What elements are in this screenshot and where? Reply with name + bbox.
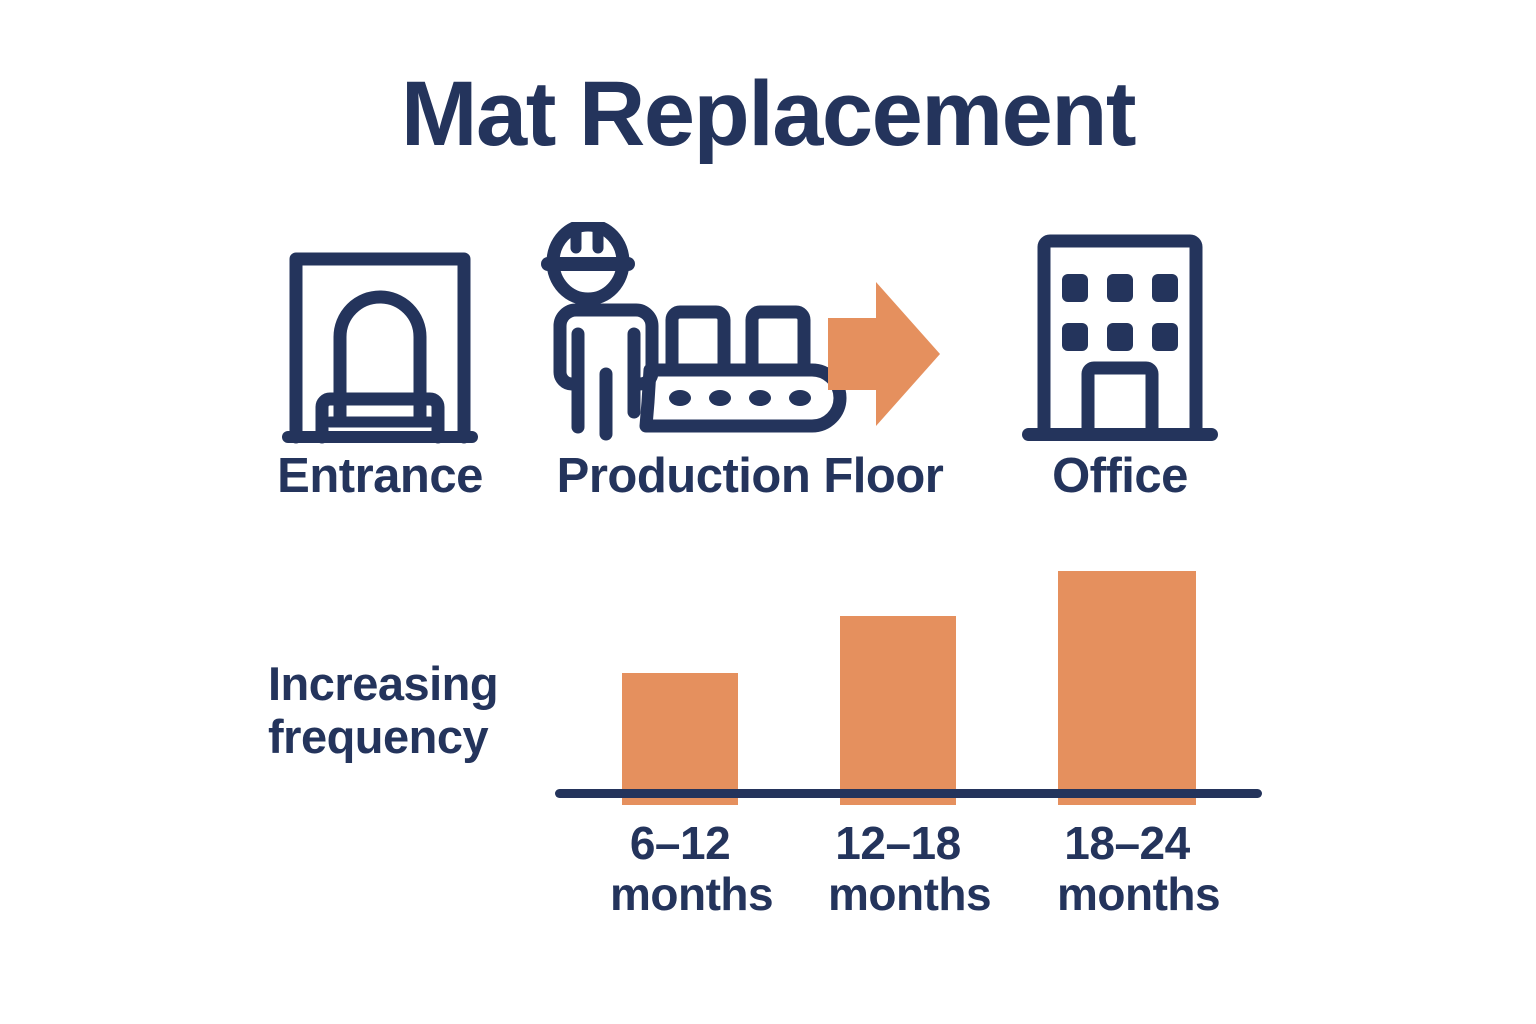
factory-worker-conveyor-icon (540, 222, 960, 444)
zone-label-entrance: Entrance (260, 448, 500, 504)
tick-label-unit-1: months (610, 869, 750, 920)
tick-label-range-3: 18–24 (1057, 818, 1197, 869)
tick-label-12-18-months: 12–18 months (828, 818, 968, 919)
bar-12-18-months (840, 616, 956, 805)
office-ground-line (1022, 428, 1218, 441)
zone-office: Office (1000, 222, 1240, 472)
bar-18-24-months (1058, 571, 1196, 805)
office-building-icon (1000, 222, 1240, 444)
chart-plot-area (250, 530, 1290, 805)
zone-label-production-floor: Production Floor (540, 448, 960, 504)
bar-6-12-months (622, 673, 738, 805)
zone-production-floor: Production Floor (540, 222, 960, 472)
zone-icon-row: Entrance (240, 222, 1260, 472)
zone-entrance: Entrance (260, 222, 500, 472)
entrance-doorway-icon (260, 222, 500, 444)
frequency-bar-chart: Increasing frequency 6–12 months 12–18 m… (250, 530, 1290, 950)
entrance-ground-line (282, 431, 478, 443)
tick-label-range-2: 12–18 (828, 818, 968, 869)
tick-label-6-12-months: 6–12 months (610, 818, 750, 919)
tick-label-18-24-months: 18–24 months (1057, 818, 1197, 919)
page-title: Mat Replacement (0, 68, 1536, 160)
conveyor-rollers (669, 390, 811, 406)
tick-label-range-1: 6–12 (610, 818, 750, 869)
infographic-root: Mat Replacement Entrance (0, 0, 1536, 1024)
office-windows (1062, 274, 1178, 351)
chart-baseline-axis (555, 789, 1262, 798)
tick-label-unit-2: months (828, 869, 968, 920)
tick-label-unit-3: months (1057, 869, 1197, 920)
zone-label-office: Office (1000, 448, 1240, 504)
